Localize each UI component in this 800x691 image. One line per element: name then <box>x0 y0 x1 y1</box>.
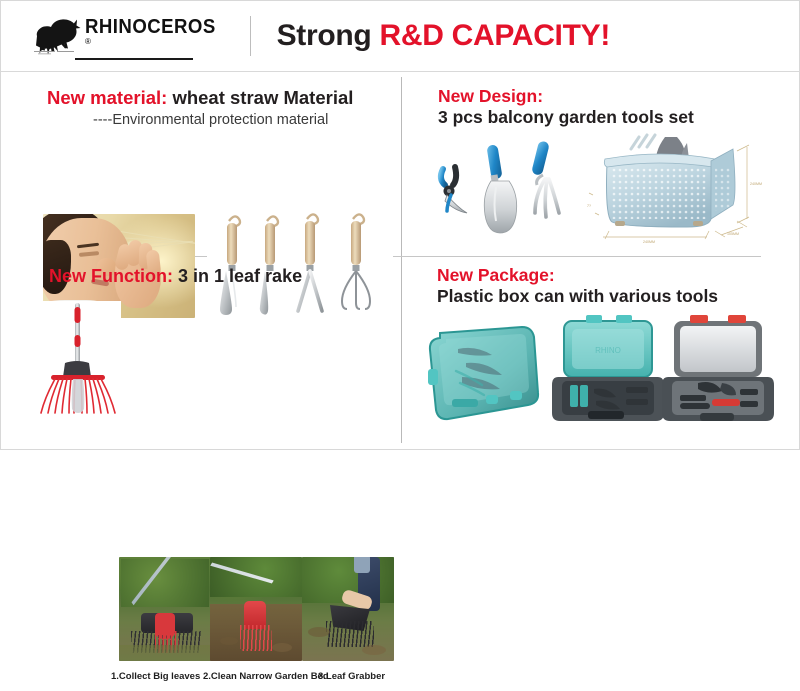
svg-text:7?: 7? <box>587 204 591 208</box>
svg-text:240MM: 240MM <box>643 240 655 244</box>
page-title: Strong R&D CAPACITY! <box>277 19 610 53</box>
title-dark-part: Strong <box>277 19 372 52</box>
header-divider <box>250 16 251 56</box>
panel-new-package: New Package: Plastic box can with variou… <box>402 257 800 443</box>
svg-text:RHINO: RHINO <box>595 346 621 355</box>
new-function-heading: New Function: 3 in 1 leaf rake <box>49 266 401 286</box>
function-captions: 1.Collect Big leaves 2.Clean Narrow Gard… <box>1 671 401 691</box>
caption-3: 3.Leaf Grabber <box>318 671 385 682</box>
header: RHINOCEROS ® Strong R&D CAPACITY! <box>1 1 800 71</box>
new-package-label: New Package: <box>437 266 800 286</box>
svg-text:240MM: 240MM <box>750 182 762 186</box>
caption-1: 1.Collect Big leaves <box>111 671 200 682</box>
new-material-label: New material: <box>47 87 167 108</box>
title-red-part: R&D CAPACITY! <box>379 19 610 52</box>
caption-2: 2.Clean Narrow Garden Bed <box>203 671 329 682</box>
rhinoceros-icon <box>31 16 83 56</box>
panel-new-material: New material: wheat straw Material ----E… <box>1 77 401 256</box>
new-function-label: New Function: <box>49 266 173 286</box>
collect-leaves-photo <box>119 557 211 661</box>
panel-new-design: New Design: 3 pcs balcony garden tools s… <box>402 77 800 256</box>
new-function-value: 3 in 1 leaf rake <box>178 266 302 286</box>
brand-wordmark: RHINOCEROS ® <box>85 17 226 55</box>
new-material-heading: New material: wheat straw Material <box>47 88 401 109</box>
new-material-subheading: ----Environmental protection material <box>93 112 401 129</box>
new-design-value: 3 pcs balcony garden tools set <box>438 108 800 128</box>
narrow-bed-photo <box>210 557 302 661</box>
new-design-label: New Design: <box>438 87 800 107</box>
gray-case-open-image <box>660 315 776 425</box>
infographic-page: RHINOCEROS ® Strong R&D CAPACITY! New ma… <box>0 0 800 450</box>
teal-case-closed-image <box>422 319 554 423</box>
leaf-rake-product-image <box>35 301 121 419</box>
svg-text:105MM: 105MM <box>727 232 739 236</box>
panel-new-function: New Function: 3 in 1 leaf rake <box>1 257 401 443</box>
new-package-value: Plastic box can with various tools <box>437 287 800 307</box>
logo-underline <box>75 58 193 60</box>
registered-mark: ® <box>85 37 91 46</box>
basket-caddy-image: 240MM 240MM 105MM 7? <box>587 131 785 253</box>
brand-logo: RHINOCEROS ® <box>31 16 226 56</box>
brand-name: RHINOCEROS <box>85 17 216 37</box>
blue-handle-tools-image <box>433 137 585 245</box>
header-rule <box>1 71 800 72</box>
leaf-grabber-photo <box>302 557 394 661</box>
teal-case-open-image: RHINO <box>552 315 664 425</box>
new-material-value: wheat straw Material <box>172 87 353 108</box>
